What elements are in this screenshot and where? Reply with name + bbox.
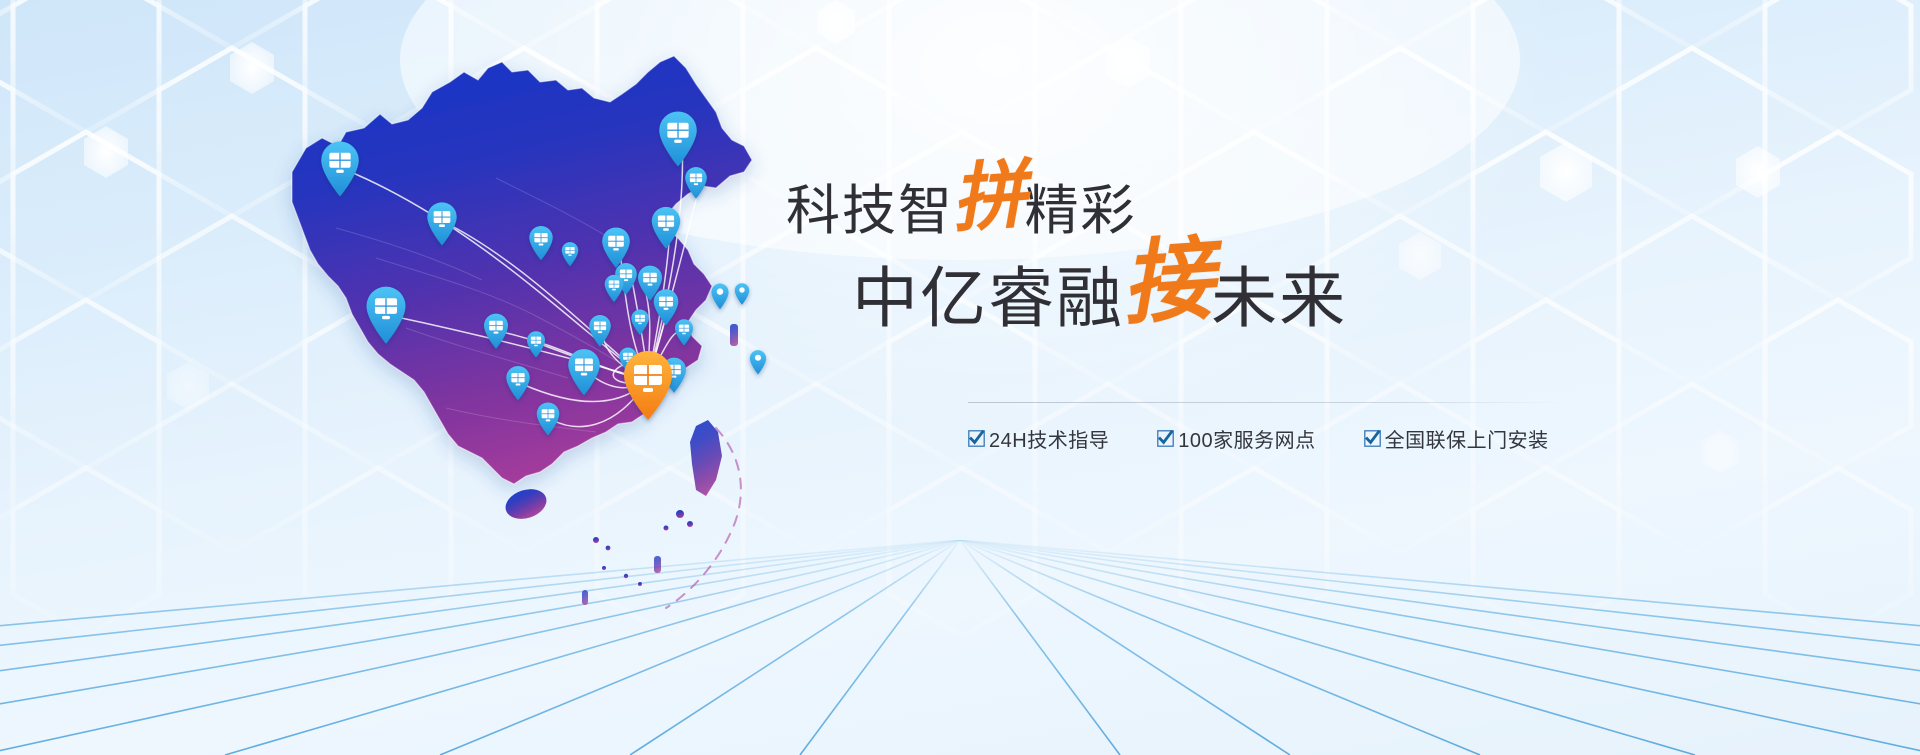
check-icon	[1157, 430, 1174, 447]
headline-line2-post: 未来	[1211, 261, 1347, 335]
headline-line1-pre: 科技智	[786, 181, 954, 241]
feature-label-1: 100家服务网点	[1178, 424, 1315, 453]
map-svg	[196, 28, 816, 628]
pin-offshore-a[interactable]	[711, 284, 728, 310]
check-icon	[1364, 430, 1381, 447]
check-icon	[968, 430, 985, 447]
headline-line2-accent: 接	[1119, 237, 1216, 327]
feature-item-2: 全国联保上门安装	[1364, 424, 1549, 453]
china-service-map	[196, 28, 816, 628]
banner-stage: 科技智拼精彩 中亿睿融接未来 24H技术指导 100家服务网点 全	[0, 0, 1920, 755]
pin-offshore-b[interactable]	[735, 283, 749, 305]
headline-line-2: 中亿睿融接未来	[778, 248, 1778, 340]
headline-line-1: 科技智拼精彩	[778, 168, 1778, 246]
feature-item-0: 24H技术指导	[968, 424, 1109, 453]
headline-divider	[968, 402, 1560, 403]
feature-list: 24H技术指导 100家服务网点 全国联保上门安装	[968, 424, 1549, 453]
feature-label-2: 全国联保上门安装	[1385, 424, 1549, 453]
headline-line1-accent: 拼	[950, 159, 1029, 234]
pin-offshore-c[interactable]	[750, 350, 766, 374]
page-title: 科技智拼精彩 中亿睿融接未来	[778, 168, 1778, 340]
headline-block: 科技智拼精彩 中亿睿融接未来	[778, 168, 1778, 340]
feature-label-0: 24H技术指导	[989, 424, 1109, 453]
headline-line2-pre: 中亿睿融	[852, 261, 1124, 335]
feature-item-1: 100家服务网点	[1157, 424, 1315, 453]
